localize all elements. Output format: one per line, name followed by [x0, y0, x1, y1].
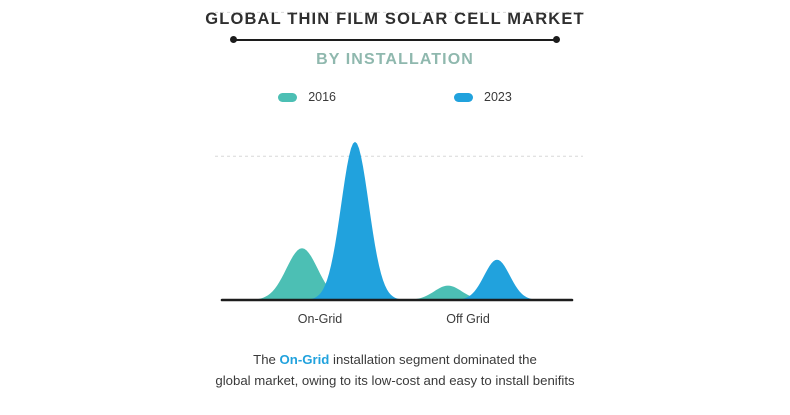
legend-item-2023[interactable]: 2023 [454, 90, 512, 104]
legend-swatch-icon-2023 [454, 93, 473, 102]
x-axis-labels: On-Grid Off Grid [222, 311, 572, 329]
caption-line-1: The On-Grid installation segment dominat… [0, 349, 790, 370]
chart-caption: The On-Grid installation segment dominat… [0, 349, 790, 391]
infographic-root: GLOBAL THIN FILM SOLAR CELL MARKET BY IN… [0, 0, 790, 415]
legend-item-2016[interactable]: 2016 [278, 90, 336, 104]
divider-dot-right-icon [553, 36, 560, 43]
area-peak-2023-on-grid[interactable] [307, 142, 403, 300]
page-title: GLOBAL THIN FILM SOLAR CELL MARKET [0, 8, 790, 30]
divider-line [234, 39, 556, 41]
caption-line-2: global market, owing to its low-cost and… [0, 370, 790, 391]
legend-label-2016: 2016 [308, 90, 336, 104]
chart-legend: 2016 2023 [0, 90, 790, 104]
area-peak-2023-off-grid[interactable] [452, 260, 542, 300]
area-peak-2016-on-grid[interactable] [248, 248, 357, 300]
area-peak-2016-off-grid[interactable] [400, 286, 496, 300]
legend-swatch-icon-2016 [278, 93, 297, 102]
caption-text-after: installation segment dominated the [329, 352, 536, 367]
page-subtitle: BY INSTALLATION [0, 50, 790, 70]
caption-highlight: On-Grid [280, 352, 330, 367]
chart-header: GLOBAL THIN FILM SOLAR CELL MARKET BY IN… [0, 8, 790, 70]
title-divider [230, 34, 560, 46]
x-axis-label-on-grid: On-Grid [298, 311, 342, 327]
caption-text-before: The [253, 352, 279, 367]
x-axis-label-off-grid: Off Grid [446, 311, 490, 327]
legend-label-2023: 2023 [484, 90, 512, 104]
